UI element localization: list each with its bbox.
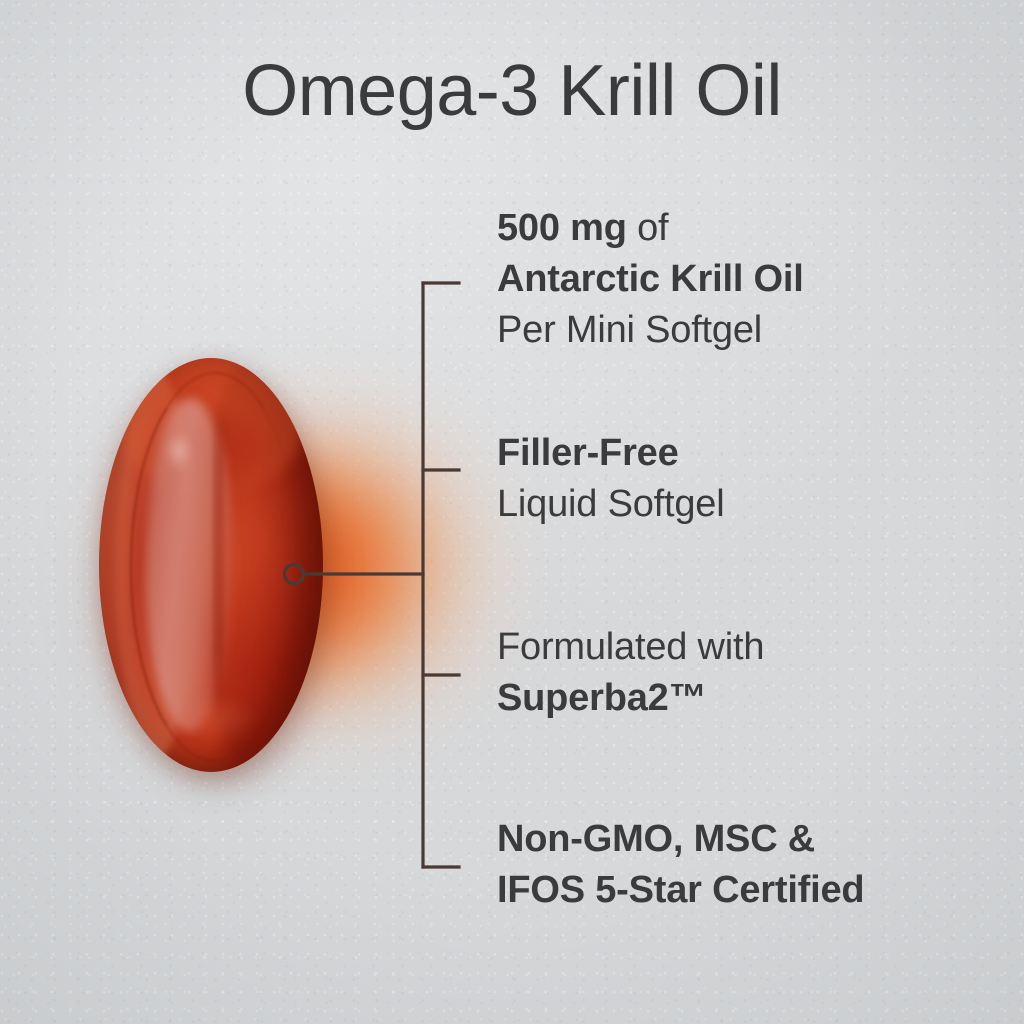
page-title: Omega-3 Krill Oil <box>0 48 1024 134</box>
filler-free-line-1: Filler-Free <box>497 428 724 479</box>
dosage-line-2: Antarctic Krill Oil <box>497 254 804 305</box>
superba2-callout: Formulated with Superba2™ <box>497 622 764 724</box>
certifications-line-1: Non-GMO, MSC & <box>497 814 864 865</box>
certifications-line-2: IFOS 5-Star Certified <box>497 865 864 916</box>
filler-free-line-2: Liquid Softgel <box>497 479 724 530</box>
dosage-suffix: of <box>627 207 669 249</box>
dosage-line-1: 500 mg of <box>497 203 804 254</box>
dosage-callout: 500 mg of Antarctic Krill Oil Per Mini S… <box>497 203 804 356</box>
softgel-seam <box>130 372 300 761</box>
softgel-capsule-image <box>99 358 323 772</box>
softgel-body <box>99 358 323 772</box>
superba2-line-1: Formulated with <box>497 622 764 673</box>
certifications-callout: Non-GMO, MSC & IFOS 5-Star Certified <box>497 814 864 916</box>
dosage-line-3: Per Mini Softgel <box>497 305 804 356</box>
superba2-line-2: Superba2™ <box>497 673 764 724</box>
infographic-canvas: Omega-3 Krill Oil 500 mg of Antarctic Kr… <box>0 0 1024 1024</box>
dosage-amount: 500 mg <box>497 207 627 249</box>
filler-free-callout: Filler-Free Liquid Softgel <box>497 428 724 530</box>
